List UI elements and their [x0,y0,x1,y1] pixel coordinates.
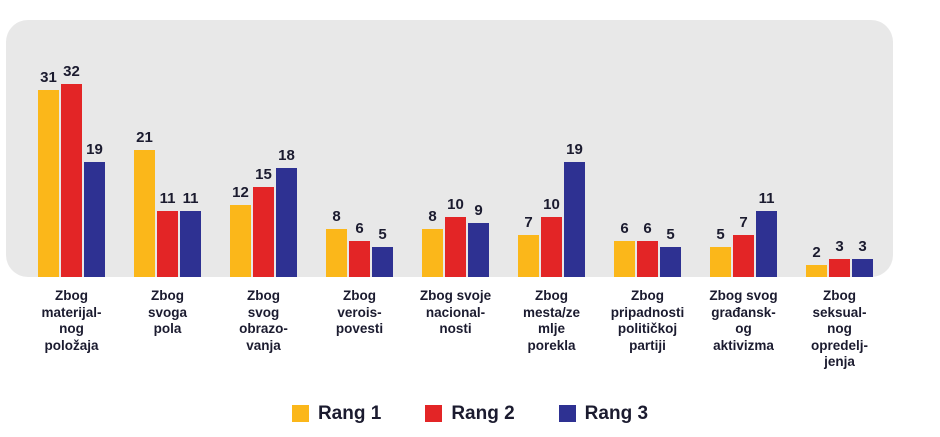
legend-label: Rang 3 [585,404,648,423]
bar-group-bars: 121518 [230,20,297,277]
bar-group: 211111 [134,20,201,277]
bar-group-bars: 313219 [38,20,105,277]
bar-group-bars: 211111 [134,20,201,277]
bar-value-label: 5 [716,227,724,242]
bar[interactable] [660,247,681,277]
bar-value-label: 2 [812,245,820,260]
legend-swatch [292,405,309,422]
bar[interactable] [38,90,59,277]
bar-group: 121518 [230,20,297,277]
plot-area: 3132192111111215188658109710196655711233 [0,20,940,277]
bar-column[interactable]: 19 [84,20,105,277]
category-label: Zbog verois- povesti [305,288,415,338]
bar[interactable] [134,150,155,277]
legend-label: Rang 2 [451,404,514,423]
bar-column[interactable]: 11 [180,20,201,277]
bar-column[interactable]: 6 [614,20,635,277]
bar-value-label: 8 [332,209,340,224]
bar-value-label: 18 [278,148,295,163]
bar[interactable] [518,235,539,277]
bar-value-label: 11 [160,191,176,206]
category-label: Zbog svog obrazo- vanja [209,288,319,354]
bar-group-bars: 8109 [422,20,489,277]
bar-value-label: 11 [183,191,199,206]
bar-group: 8109 [422,20,489,277]
category-label: Zbog pripadnosti političkoj partiji [593,288,703,354]
bar[interactable] [829,259,850,277]
bar-group: 71019 [518,20,585,277]
bar-column[interactable]: 7 [518,20,539,277]
bar[interactable] [276,168,297,277]
category-label: Zbog svog građansk- og aktivizma [689,288,799,354]
bar[interactable] [852,259,873,277]
bar[interactable] [230,205,251,277]
bar[interactable] [614,241,635,277]
bar-column[interactable]: 31 [38,20,59,277]
bar-column[interactable]: 3 [829,20,850,277]
category-label: Zbog svoje nacional- nosti [401,288,511,338]
bar-column[interactable]: 7 [733,20,754,277]
bar-value-label: 3 [858,239,866,254]
legend-swatch [559,405,576,422]
bar[interactable] [756,211,777,277]
bar[interactable] [564,162,585,277]
bar[interactable] [806,265,827,277]
bar-group: 665 [614,20,681,277]
bar-column[interactable]: 6 [637,20,658,277]
bar[interactable] [180,211,201,277]
legend-swatch [425,405,442,422]
category-label: Zbog seksual- nog opredelj- jenja [785,288,895,371]
legend-item[interactable]: Rang 3 [559,404,648,423]
bar-value-label: 6 [643,221,651,236]
bar-column[interactable]: 11 [756,20,777,277]
bar[interactable] [84,162,105,277]
chart-legend: Rang 1Rang 2Rang 3 [0,404,940,423]
bar-value-label: 21 [136,130,153,145]
bar-value-label: 11 [759,191,775,206]
bar-column[interactable]: 8 [422,20,443,277]
bar-value-label: 19 [86,142,103,157]
category-label: Zbog mesta/ze mlje porekla [497,288,607,354]
bar-value-label: 12 [232,185,249,200]
bar-column[interactable]: 3 [852,20,873,277]
bar[interactable] [541,217,562,277]
bar[interactable] [445,217,466,277]
legend-label: Rang 1 [318,404,381,423]
bar-column[interactable]: 19 [564,20,585,277]
bar-column[interactable]: 10 [445,20,466,277]
bar-value-label: 10 [543,197,560,212]
bar[interactable] [733,235,754,277]
bar-value-label: 9 [474,203,482,218]
bar[interactable] [468,223,489,277]
bar[interactable] [349,241,370,277]
bar-column[interactable]: 8 [326,20,347,277]
bar-value-label: 6 [620,221,628,236]
bar-column[interactable]: 6 [349,20,370,277]
bar-column[interactable]: 32 [61,20,82,277]
bar-group: 865 [326,20,393,277]
bar-column[interactable]: 21 [134,20,155,277]
bar-column[interactable]: 10 [541,20,562,277]
bar-value-label: 7 [739,215,747,230]
category-label: Zbog svoga pola [113,288,223,338]
bar[interactable] [372,247,393,277]
bar[interactable] [710,247,731,277]
bar-group-bars: 865 [326,20,393,277]
bar[interactable] [61,84,82,277]
bar-value-label: 5 [666,227,674,242]
bar-column[interactable]: 5 [710,20,731,277]
bar-column[interactable]: 15 [253,20,274,277]
bar-column[interactable]: 2 [806,20,827,277]
legend-item[interactable]: Rang 2 [425,404,514,423]
bar-column[interactable]: 18 [276,20,297,277]
bar-group-bars: 5711 [710,20,777,277]
bar-column[interactable]: 5 [372,20,393,277]
bar-group-bars: 71019 [518,20,585,277]
bar-value-label: 19 [566,142,583,157]
bar-column[interactable]: 12 [230,20,251,277]
bar-value-label: 15 [255,167,272,182]
bar-value-label: 8 [428,209,436,224]
bar-value-label: 7 [524,215,532,230]
category-label: Zbog materijal- nog položaja [17,288,127,354]
bar[interactable] [157,211,178,277]
legend-item[interactable]: Rang 1 [292,404,381,423]
bar-value-label: 31 [40,70,57,85]
category-axis-labels: Zbog materijal- nog položajaZbog svoga p… [0,288,940,388]
bar[interactable] [326,229,347,277]
bar-value-label: 6 [355,221,363,236]
bar-group: 233 [806,20,873,277]
bar[interactable] [422,229,443,277]
bar-group-bars: 665 [614,20,681,277]
bar-value-label: 3 [835,239,843,254]
bar-column[interactable]: 5 [660,20,681,277]
bar-value-label: 32 [63,64,80,79]
bar-column[interactable]: 9 [468,20,489,277]
bar-group: 313219 [38,20,105,277]
bar-chart: 3132192111111215188658109710196655711233… [0,0,940,437]
bar[interactable] [637,241,658,277]
bar-value-label: 10 [447,197,464,212]
bar[interactable] [253,187,274,277]
bar-group: 5711 [710,20,777,277]
bar-column[interactable]: 11 [157,20,178,277]
bar-group-bars: 233 [806,20,873,277]
bar-value-label: 5 [378,227,386,242]
